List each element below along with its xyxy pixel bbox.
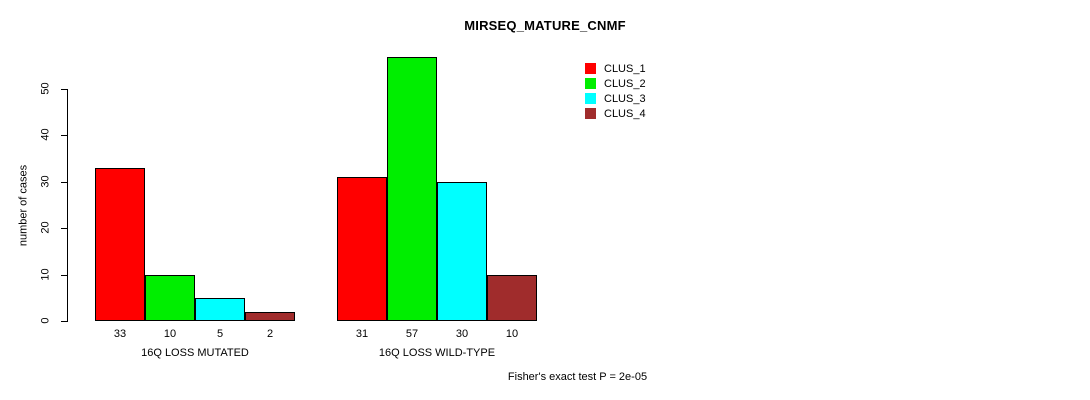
y-tick-mark bbox=[61, 228, 68, 229]
legend-label: CLUS_2 bbox=[604, 78, 646, 90]
bar[interactable] bbox=[95, 168, 145, 321]
y-tick-label: 50 bbox=[41, 76, 52, 102]
y-axis-line bbox=[67, 89, 68, 322]
legend-item[interactable]: CLUS_4 bbox=[585, 107, 705, 122]
bar-value-label: 2 bbox=[245, 329, 295, 340]
legend-label: CLUS_4 bbox=[604, 108, 646, 120]
bar-value-label: 10 bbox=[145, 329, 195, 340]
bar-value-label: 10 bbox=[487, 329, 537, 340]
y-tick-label: 0 bbox=[41, 308, 52, 334]
bar[interactable] bbox=[245, 312, 295, 321]
legend-swatch-icon bbox=[585, 63, 596, 74]
legend-item[interactable]: CLUS_2 bbox=[585, 77, 705, 92]
legend-swatch-icon bbox=[585, 93, 596, 104]
legend-swatch-icon bbox=[585, 78, 596, 89]
footer-annotation: Fisher's exact test P = 2e-05 bbox=[65, 371, 1090, 383]
y-tick-mark bbox=[61, 321, 68, 322]
bar[interactable] bbox=[195, 298, 245, 321]
legend-swatch-icon bbox=[585, 108, 596, 119]
y-tick-label: 30 bbox=[41, 168, 52, 194]
y-tick-label: 20 bbox=[41, 215, 52, 241]
bar-value-label: 33 bbox=[95, 329, 145, 340]
legend-item[interactable]: CLUS_3 bbox=[585, 92, 705, 107]
legend-item[interactable]: CLUS_1 bbox=[585, 62, 705, 77]
y-tick-mark bbox=[61, 89, 68, 90]
bar[interactable] bbox=[145, 275, 195, 321]
legend: CLUS_1CLUS_2CLUS_3CLUS_4 bbox=[585, 62, 705, 122]
bar[interactable] bbox=[487, 275, 537, 321]
legend-label: CLUS_3 bbox=[604, 93, 646, 105]
y-axis-title: number of cases bbox=[19, 151, 30, 261]
bar[interactable] bbox=[337, 177, 387, 321]
bar[interactable] bbox=[437, 182, 487, 321]
bar-value-label: 31 bbox=[337, 329, 387, 340]
bar[interactable] bbox=[387, 57, 437, 321]
bar-value-label: 5 bbox=[195, 329, 245, 340]
y-tick-label: 10 bbox=[41, 261, 52, 287]
chart-canvas: MIRSEQ_MATURE_CNMF number of cases 01020… bbox=[0, 0, 1090, 400]
y-tick-mark bbox=[61, 135, 68, 136]
legend-label: CLUS_1 bbox=[604, 63, 646, 75]
y-tick-mark bbox=[61, 275, 68, 276]
plot-area: number of cases 01020304050 33105216Q LO… bbox=[0, 0, 1090, 400]
group-label: 16Q LOSS WILD-TYPE bbox=[337, 348, 537, 359]
group-label: 16Q LOSS MUTATED bbox=[95, 348, 295, 359]
bar-value-label: 57 bbox=[387, 329, 437, 340]
bar-value-label: 30 bbox=[437, 329, 487, 340]
y-tick-label: 40 bbox=[41, 122, 52, 148]
y-tick-mark bbox=[61, 182, 68, 183]
